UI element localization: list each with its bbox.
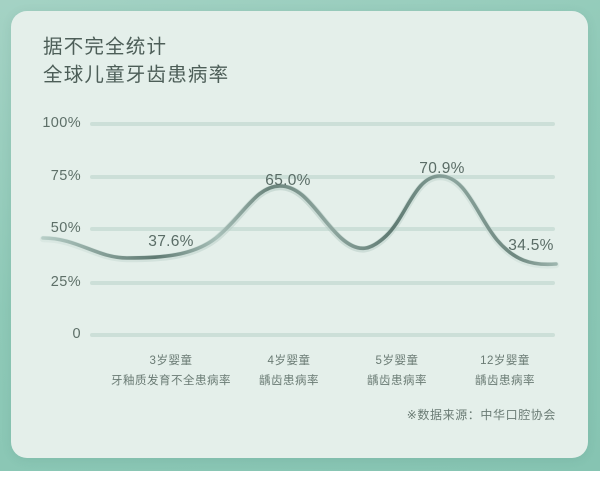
x-axis-label-2-line2: 龋齿患病率 (367, 371, 427, 391)
x-axis-label-0: 3岁婴童 牙釉质发育不全患病率 (111, 351, 231, 391)
x-axis-label-0-line2: 牙釉质发育不全患病率 (111, 371, 231, 391)
gridline-100 (90, 122, 555, 126)
gridline-50 (90, 227, 555, 231)
x-axis-label-0-line1: 3岁婴童 (111, 351, 231, 371)
y-axis-tick-25-wrap: 25% (11, 274, 81, 292)
gridline-75 (90, 175, 555, 179)
x-axis-label-1-line1: 4岁婴童 (259, 351, 319, 371)
plot-area: 100% 75% 50% 25% 0 (11, 11, 588, 458)
x-axis-label-1: 4岁婴童 龋齿患病率 (259, 351, 319, 391)
y-axis-tick-0-wrap: 0 (11, 326, 81, 344)
x-axis-label-3-line1: 12岁婴童 (475, 351, 535, 371)
x-axis-label-3: 12岁婴童 龋齿患病率 (475, 351, 535, 391)
x-axis-label-2-line1: 5岁婴童 (367, 351, 427, 371)
x-axis-label-1-line2: 龋齿患病率 (259, 371, 319, 391)
chart-card: 据不完全统计 全球儿童牙齿患病率 100% 75% 50% 25% (11, 11, 588, 458)
x-axis-label-3-line2: 龋齿患病率 (475, 371, 535, 391)
data-label-3: 34.5% (508, 237, 553, 255)
gridline-25 (90, 281, 555, 285)
data-label-2: 70.9% (419, 160, 464, 178)
x-axis-label-2: 5岁婴童 龋齿患病率 (367, 351, 427, 391)
y-axis-tick-50-wrap: 50% (11, 220, 81, 238)
data-source-footnote: ※数据来源：中华口腔协会 (407, 406, 556, 423)
gridline-0 (90, 333, 555, 337)
y-axis-tick-0: 0 (17, 326, 81, 342)
data-label-0: 37.6% (148, 233, 193, 251)
y-axis-tick-100: 100% (17, 115, 81, 131)
bottom-strip (0, 471, 600, 479)
chart-canvas: 据不完全统计 全球儿童牙齿患病率 100% 75% 50% 25% (0, 0, 600, 479)
y-axis-tick-75-wrap: 75% (11, 168, 81, 186)
y-axis-tick-25: 25% (17, 274, 81, 290)
y-axis-tick-100-wrap: 100% (11, 115, 81, 133)
data-label-1: 65.0% (265, 172, 310, 190)
y-axis-tick-50: 50% (17, 220, 81, 236)
y-axis-tick-75: 75% (17, 168, 81, 184)
